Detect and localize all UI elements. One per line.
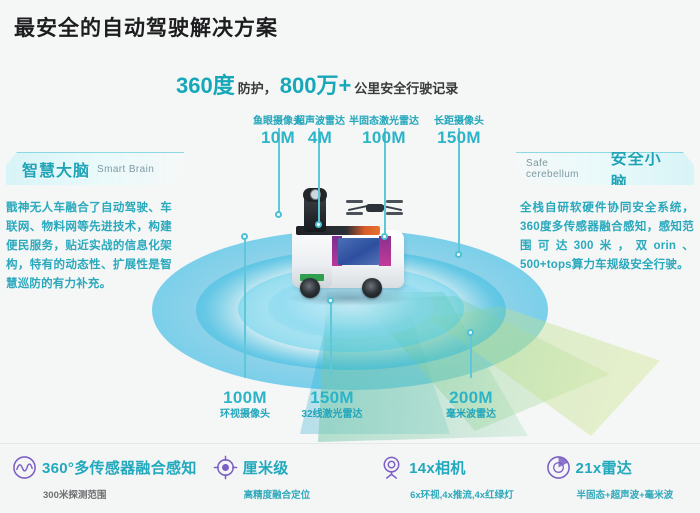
panel-right-body: 全栈自研软硬件协同安全系统，360度多传感器融合感知，感知范围可达300米，双o… [516, 199, 694, 275]
panel-right-title-zh: 安全小脑 [611, 145, 678, 193]
feature-title: 21x雷达 [576, 457, 633, 478]
connector-dot-top-4 [455, 251, 462, 258]
sensor-caption: 长距摄像头 [419, 115, 499, 128]
vehicle-stripe-rear [379, 236, 391, 266]
infographic-root: 最安全的自动驾驶解决方案 360度 防护， 800万+ 公里安全行驶记录 [0, 0, 700, 513]
connector-line-bottom-3 [470, 332, 472, 378]
page-title: 最安全的自动驾驶解决方案 [14, 12, 278, 42]
feature-item-cameras: 14x相机 6x环视,4x推流,4x红绿灯 [367, 444, 533, 513]
feature-subtitle: 6x环视,4x推流,4x红绿灯 [410, 487, 529, 501]
sensor-caption: 32线激光雷达 [288, 408, 376, 421]
subtitle-text-protection: 防护， [238, 78, 277, 97]
connector-dot-bottom-2 [327, 297, 334, 304]
connector-dot-top-1 [275, 211, 282, 218]
feature-subtitle: 高精度融合定位 [244, 487, 363, 501]
sensor-label-surround-camera: 100M 环视摄像头 [205, 388, 285, 421]
vehicle-wheel-front [300, 278, 320, 298]
panel-left-title-zh: 智慧大脑 [22, 157, 90, 181]
feature-subtitle: 半固态+超声波+毫米波 [577, 487, 696, 501]
feature-item-centimeter-accuracy: 厘米级 高精度融合定位 [201, 444, 367, 513]
connector-line-bottom-2 [330, 300, 332, 378]
banner-underline [532, 188, 682, 189]
sensor-caption: 毫米波雷达 [431, 408, 511, 421]
banner-underline [18, 188, 168, 189]
feature-head: 360°多传感器融合感知 [12, 455, 197, 480]
subtitle-banner: 360度 防护， 800万+ 公里安全行驶记录 [176, 68, 458, 100]
feature-item-radars: 21x雷达 半固态+超声波+毫米波 [534, 444, 700, 513]
autonomous-vehicle-illustration [278, 186, 428, 316]
camera-tripod-icon [379, 455, 404, 480]
feature-bar: 360°多传感器融合感知 300米探测范围 厘米级 高精度融合定位 [0, 443, 700, 513]
feature-title: 14x相机 [409, 457, 466, 478]
subtitle-metric-360: 360度 [176, 68, 235, 100]
sensor-value: 150M [419, 128, 499, 148]
feature-head: 14x相机 [379, 455, 529, 480]
feature-title: 360°多传感器融合感知 [42, 457, 197, 478]
panel-left-banner: 智慧大脑 Smart Brain [6, 152, 184, 185]
sensor-label-millimeter-wave-radar: 200M 毫米波雷达 [431, 388, 511, 421]
feature-head: 21x雷达 [546, 455, 696, 480]
feature-subtitle: 300米探测范围 [43, 487, 197, 501]
vehicle-display-screen [338, 238, 380, 265]
vehicle-wheel-rear [362, 278, 382, 298]
panel-right-banner: Safe cerebellum 安全小脑 [516, 152, 694, 185]
sensor-value: 100M [205, 388, 285, 408]
connector-dot-top-3 [381, 233, 388, 240]
target-crosshair-icon [213, 455, 238, 480]
subtitle-metric-mileage: 800万+ [280, 68, 352, 100]
subtitle-text-record: 公里安全行驶记录 [354, 78, 458, 97]
sensor-label-32-line-lidar: 150M 32线激光雷达 [288, 388, 376, 421]
sensor-value: 200M [431, 388, 511, 408]
sensor-value: 150M [288, 388, 376, 408]
panel-safe-cerebellum: Safe cerebellum 安全小脑 全栈自研软硬件协同安全系统，360度多… [516, 152, 694, 275]
connector-dot-bottom-1 [241, 233, 248, 240]
connector-line-bottom-1 [244, 236, 246, 378]
radar-sweep-icon [546, 455, 571, 480]
feature-head: 厘米级 [213, 455, 363, 480]
feature-item-fusion-perception: 360°多传感器融合感知 300米探测范围 [0, 444, 201, 513]
sensor-caption: 环视摄像头 [205, 408, 285, 421]
waveform-circle-icon [12, 455, 37, 480]
panel-left-title-en: Smart Brain [97, 164, 154, 175]
panel-smart-brain: 智慧大脑 Smart Brain 戬神无人车融合了自动驾驶、车联网、物料网等先进… [6, 152, 184, 294]
feature-title: 厘米级 [243, 457, 289, 478]
panel-right-title-en: Safe cerebellum [526, 158, 604, 180]
panel-left-body: 戬神无人车融合了自动驾驶、车联网、物料网等先进技术，构建便民服务，贴近实战的信息… [6, 199, 184, 294]
sensor-label-long-range-camera: 长距摄像头 150M [419, 115, 499, 148]
connector-dot-bottom-3 [467, 329, 474, 336]
connector-dot-top-2 [315, 221, 322, 228]
